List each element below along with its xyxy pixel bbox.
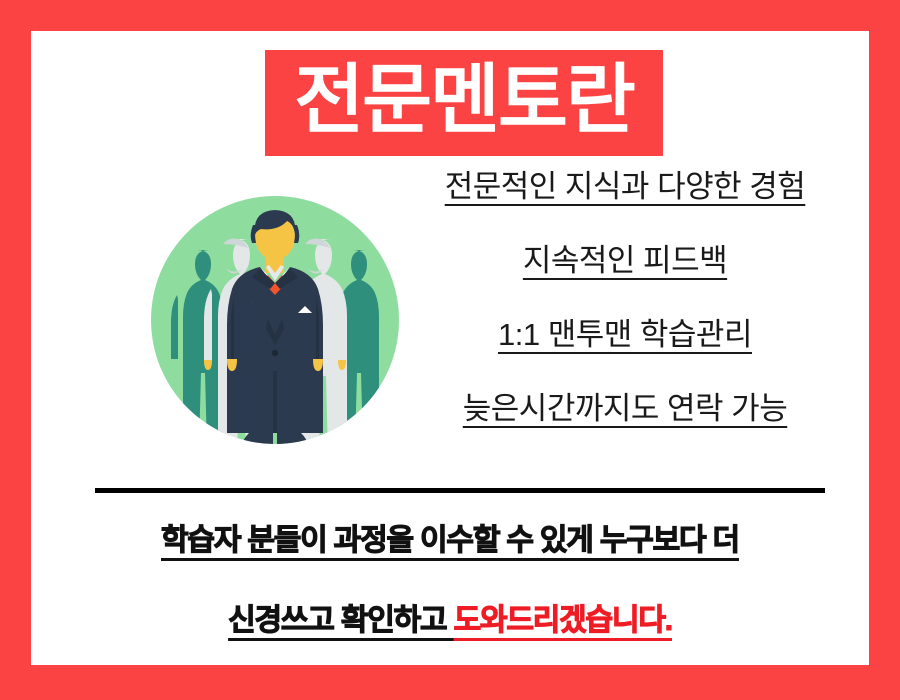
feature-item-late-contact: 늦은시간까지도 연락 가능	[463, 393, 787, 424]
feature-item-feedback: 지속적인 피드백	[523, 245, 727, 276]
closing-line-2: 신경쓰고 확인하고 도와드리겠습니다.	[31, 606, 869, 636]
title-banner: 전문멘토란	[265, 50, 663, 156]
closing-line-1: 학습자 분들이 과정을 이수할 수 있게 누구보다 더	[31, 526, 869, 556]
closing-statement: 학습자 분들이 과정을 이수할 수 있게 누구보다 더 신경쓰고 확인하고 도와…	[31, 526, 869, 636]
feature-item-knowledge: 전문적인 지식과 다양한 경험	[445, 171, 806, 202]
section-divider	[95, 488, 825, 493]
closing-line-2-plain: 신경쓰고 확인하고	[228, 604, 453, 637]
feature-item-one-on-one: 1:1 맨투맨 학습관리	[498, 319, 752, 350]
poster-frame: 전문멘토란	[0, 0, 900, 700]
feature-list: 전문적인 지식과 다양한 경험 지속적인 피드백 1:1 맨투맨 학습관리 늦은…	[381, 171, 869, 424]
mentor-group-illustration	[150, 195, 400, 445]
poster-content: 전문멘토란	[31, 31, 869, 665]
closing-line-2-accent: 도와드리겠습니다.	[454, 604, 672, 637]
page-title: 전문멘토란	[294, 63, 634, 139]
